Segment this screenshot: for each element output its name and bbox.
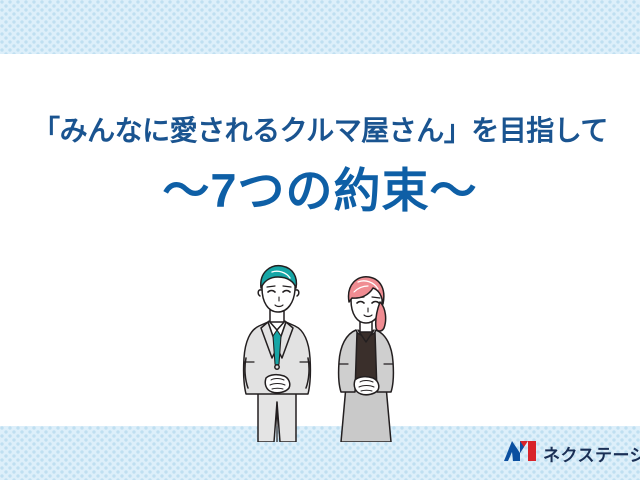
two-staff-bowing-illustration <box>228 262 428 442</box>
headline-line-2: ～7つの約束～ <box>0 162 640 220</box>
nextage-logo-text: ネクステージ <box>543 441 640 466</box>
male-staff-figure <box>244 266 311 442</box>
headline-line-1: 「みんなに愛されるクルマ屋さん」を目指して <box>0 112 640 150</box>
promotional-banner: 「みんなに愛されるクルマ屋さん」を目指して ～7つの約束～ <box>0 0 640 480</box>
headline-block: 「みんなに愛されるクルマ屋さん」を目指して ～7つの約束～ <box>0 112 640 220</box>
nextage-logo: ネクステージ <box>503 440 640 467</box>
nextage-n-logo-icon <box>503 440 537 467</box>
top-dotted-band <box>0 0 640 54</box>
female-staff-figure <box>339 277 394 442</box>
